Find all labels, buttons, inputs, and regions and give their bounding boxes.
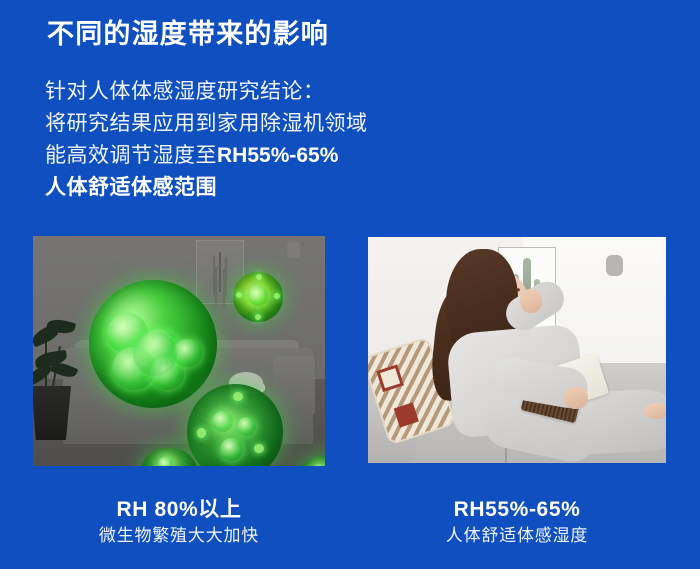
hand-at-face: [520, 289, 542, 313]
microbe-bleb: [212, 411, 233, 432]
intro-line-3: 能高效调节湿度至RH55%-65%: [45, 140, 465, 172]
plant-pot: [33, 386, 71, 440]
microbe-bleb: [158, 457, 174, 466]
microbe-bleb: [173, 339, 201, 367]
microbe-spike: [255, 314, 261, 320]
intro-line-4: 人体舒适体感范围: [45, 172, 465, 204]
microbe-faint-icon: [133, 332, 177, 376]
woman-reading: [368, 237, 666, 463]
wall-speaker-icon: [287, 242, 300, 258]
foot: [644, 403, 666, 419]
intro-line-2: 将研究结果应用到家用除湿机领域: [45, 108, 465, 140]
caption-comfort-humidity: RH55%-65% 人体舒适体感湿度: [368, 497, 666, 549]
microbe-bleb: [220, 438, 243, 461]
microbe-bleb: [312, 464, 325, 466]
caption-subtitle: 人体舒适体感湿度: [368, 523, 666, 549]
intro-paragraph: 针对人体体感湿度研究结论： 将研究结果应用到家用除湿机领域 能高效调节湿度至RH…: [45, 76, 465, 204]
caption-high-humidity: RH 80%以上 微生物繁殖大大加快: [33, 497, 325, 549]
intro-line-3-prefix: 能高效调节湿度至: [45, 144, 217, 167]
intro-line-1: 针对人体体感湿度研究结论：: [45, 76, 465, 108]
humidity-comparison-poster: 不同的湿度带来的影响 针对人体体感湿度研究结论： 将研究结果应用到家用除湿机领域…: [0, 0, 700, 569]
microbe-small-icon: [233, 272, 283, 322]
dim-living-room-scene: [33, 236, 325, 466]
microbe-spike: [233, 392, 243, 402]
microbe-spike: [197, 428, 207, 438]
hand-holding-book: [564, 387, 588, 409]
microbe-bleb: [237, 417, 256, 436]
sofa-arm: [273, 356, 315, 416]
microbe-bleb: [248, 286, 268, 306]
microbe-spike: [274, 293, 280, 299]
comfort-humidity-image: [368, 237, 666, 463]
high-humidity-image: [33, 236, 325, 466]
page-title: 不同的湿度带来的影响: [47, 18, 329, 52]
bright-living-room-scene: [368, 237, 666, 463]
humidity-range-highlight: RH55%-65%: [217, 144, 338, 167]
microbe-spike: [236, 292, 242, 298]
caption-subtitle: 微生物繁殖大大加快: [33, 523, 325, 549]
microbe-spike: [256, 274, 262, 280]
caption-title: RH 80%以上: [33, 497, 325, 523]
caption-title: RH55%-65%: [368, 497, 666, 523]
microbe-spike: [254, 444, 264, 454]
